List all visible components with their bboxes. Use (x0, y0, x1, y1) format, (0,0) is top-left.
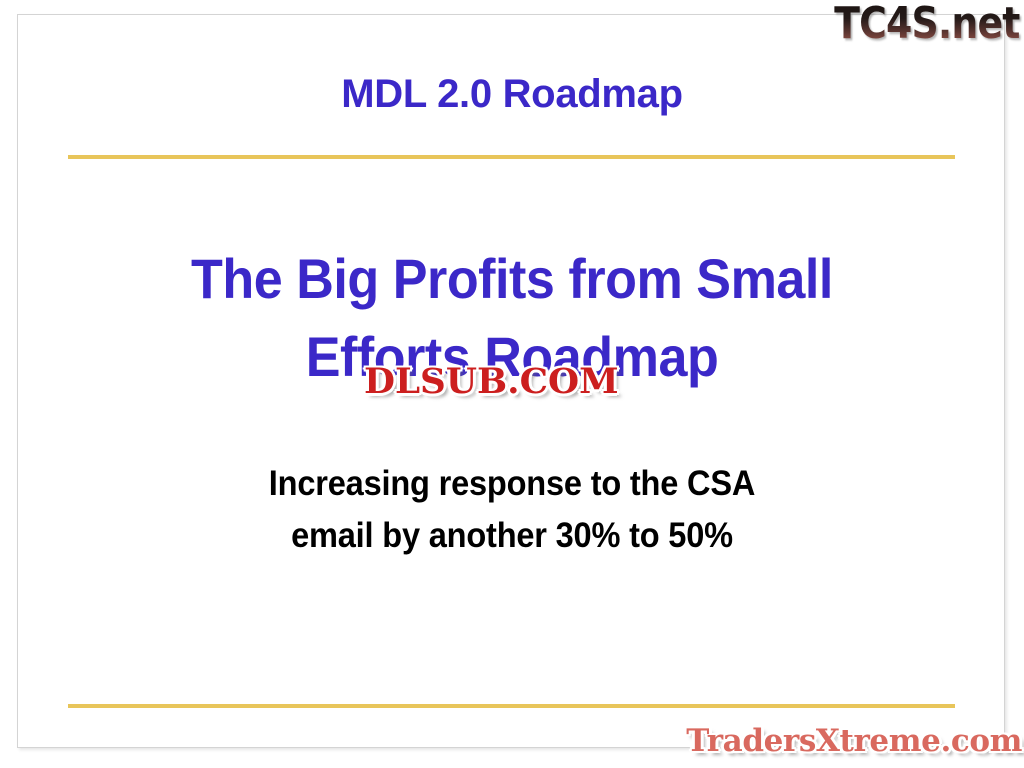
subtitle-line-1: Increasing response to the CSA (92, 458, 933, 510)
subtitle: Increasing response to the CSA email by … (92, 396, 933, 562)
divider-top (68, 155, 955, 159)
slide-canvas: MDL 2.0 Roadmap The Big Profits from Sma… (0, 0, 1024, 768)
subtitle-line-2: email by another 30% to 50% (92, 510, 933, 562)
watermark-tc4s-net: TC4S.net (835, 0, 1020, 48)
watermark-dlsub-com: DLSUB.COM (364, 361, 619, 403)
main-title-line-1: The Big Profits from Small (92, 240, 933, 318)
page-title: MDL 2.0 Roadmap (0, 70, 1024, 118)
divider-bottom (68, 704, 955, 708)
watermark-tradersxtreme-com: TradersXtreme.com (686, 722, 1022, 760)
